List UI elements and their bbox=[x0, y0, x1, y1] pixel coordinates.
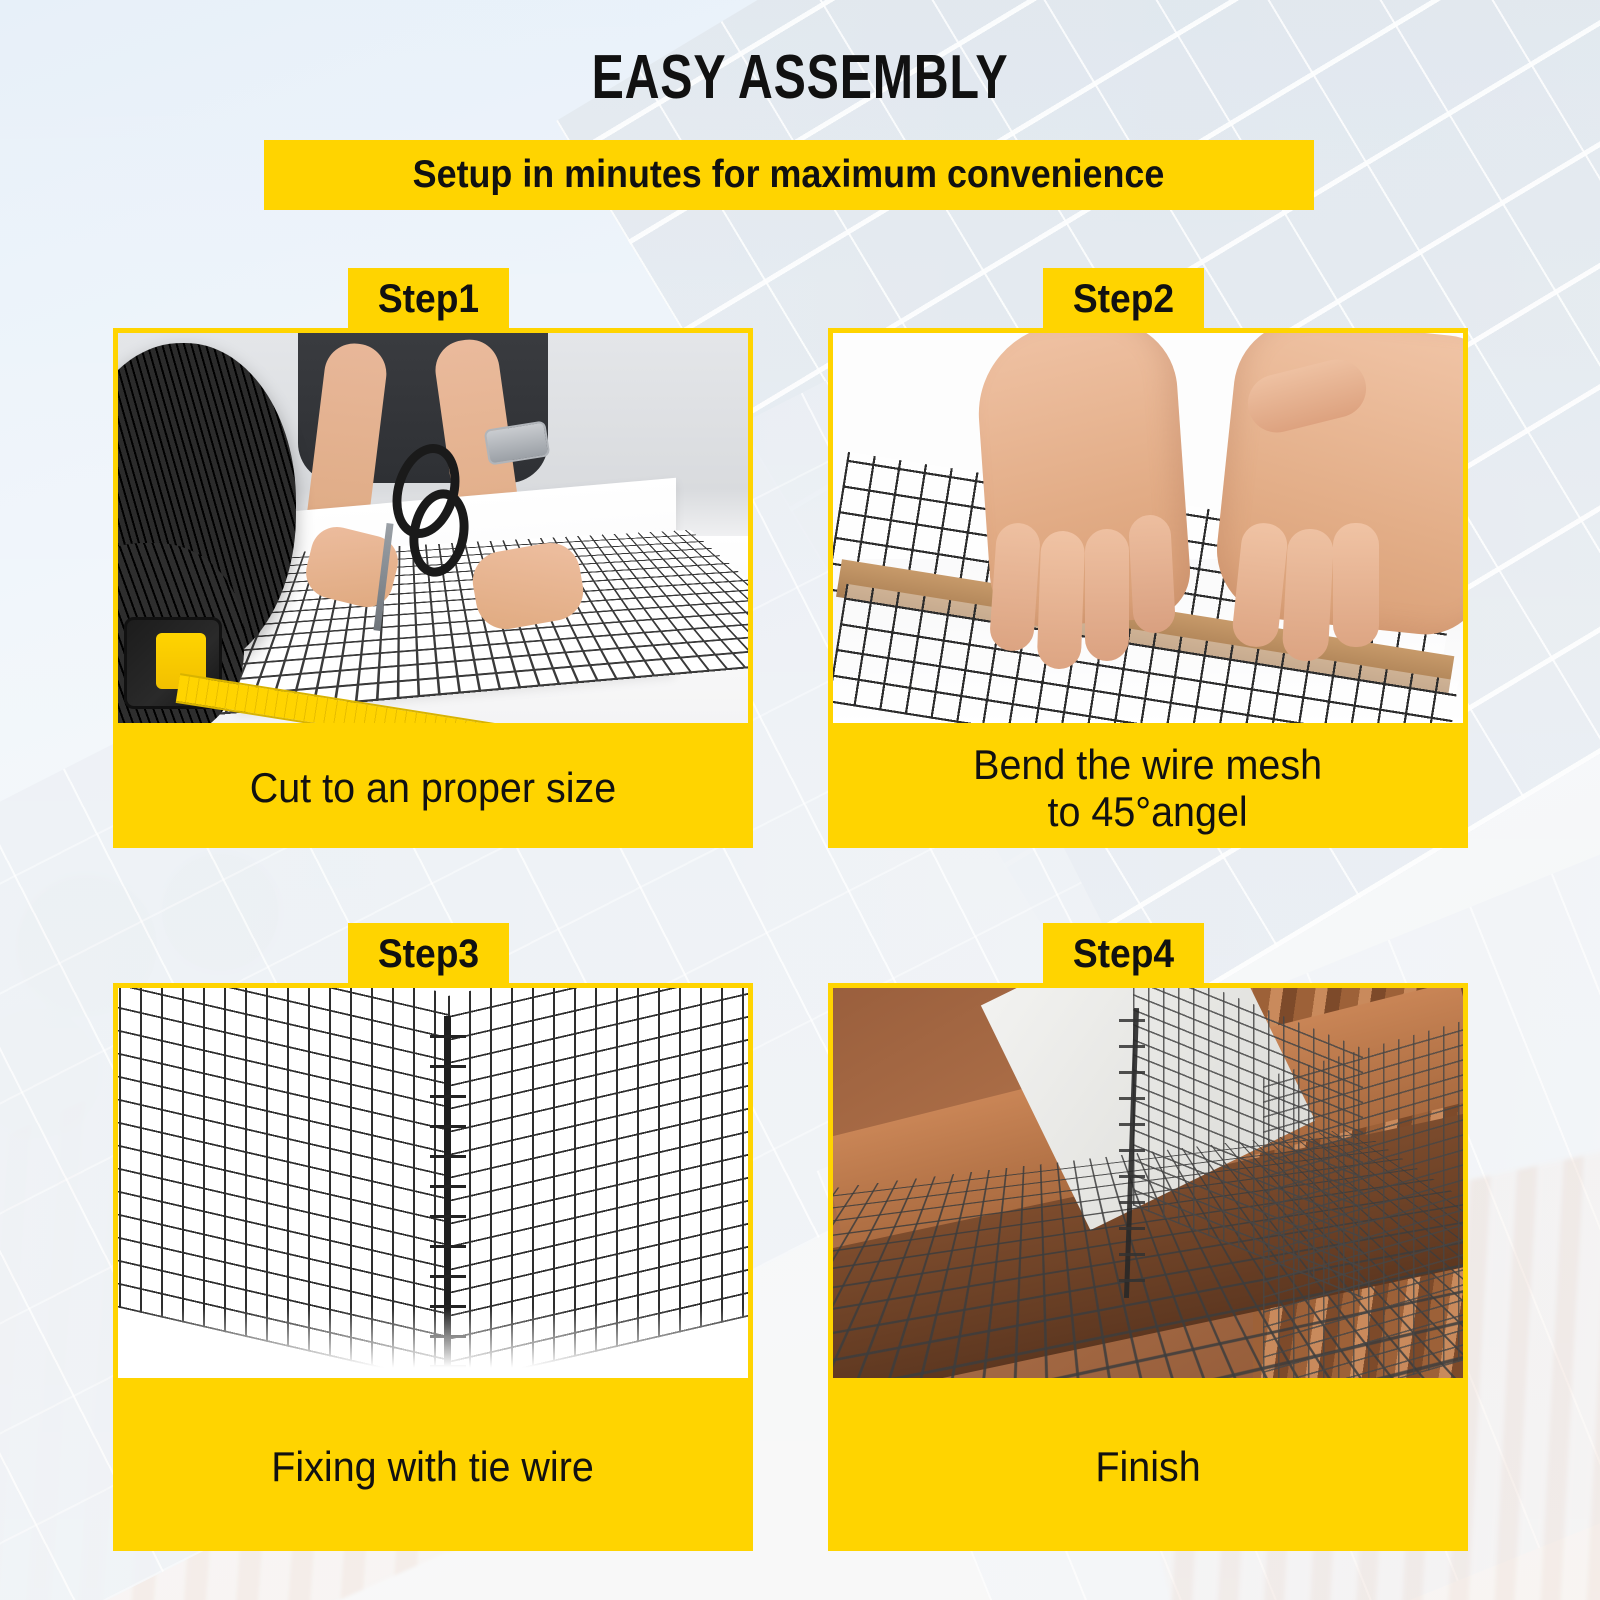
step-caption-text-2: Bend the wire mesh to 45°angel bbox=[974, 741, 1323, 835]
step-caption-text-4: Finish bbox=[1095, 1443, 1200, 1490]
step-photo-1 bbox=[118, 333, 748, 723]
step-photo-frame-3 bbox=[113, 983, 753, 1383]
step-caption-text-3: Fixing with tie wire bbox=[272, 1443, 595, 1490]
step-caption-line-2b: to 45°angel bbox=[1048, 788, 1248, 835]
step-caption-4: Finish bbox=[828, 1383, 1468, 1551]
step-caption-text-1: Cut to an proper size bbox=[250, 764, 616, 811]
photo2-left-finger-2 bbox=[1037, 530, 1086, 669]
step-tab-1: Step1 bbox=[348, 268, 509, 330]
step-photo-frame-4 bbox=[828, 983, 1468, 1383]
step-caption-line-2a: Bend the wire mesh bbox=[974, 741, 1323, 788]
photo4-tie-wires bbox=[1119, 1016, 1145, 1296]
step-tab-label-4: Step4 bbox=[1073, 934, 1174, 974]
step-caption-3: Fixing with tie wire bbox=[113, 1383, 753, 1551]
infographic-page: EASY ASSEMBLY Setup in minutes for maxim… bbox=[0, 0, 1600, 1600]
step-tab-label-3: Step3 bbox=[378, 934, 479, 974]
step-tab-label-2: Step2 bbox=[1073, 279, 1174, 319]
step-photo-2 bbox=[833, 333, 1463, 723]
photo3-bottom-fade bbox=[118, 1308, 748, 1378]
step-photo-3 bbox=[118, 988, 748, 1378]
photo2-left-finger-3 bbox=[1085, 529, 1129, 661]
photo2-right-finger-2 bbox=[1282, 528, 1335, 662]
photo2-left-finger-4 bbox=[1128, 514, 1176, 634]
photo2-right-finger-3 bbox=[1333, 523, 1379, 647]
step-photo-frame-1 bbox=[113, 328, 753, 728]
photo4-mesh-right-section bbox=[1263, 1018, 1463, 1378]
step-tab-3: Step3 bbox=[348, 923, 509, 985]
step-tab-4: Step4 bbox=[1043, 923, 1204, 985]
photo2-left-finger-1 bbox=[989, 522, 1042, 653]
step-photo-4 bbox=[833, 988, 1463, 1378]
step-caption-1: Cut to an proper size bbox=[113, 728, 753, 848]
step-tab-label-1: Step1 bbox=[378, 279, 479, 319]
step-photo-frame-2 bbox=[828, 328, 1468, 728]
steps-grid: Step1 bbox=[0, 0, 1600, 1600]
step-caption-2: Bend the wire mesh to 45°angel bbox=[828, 728, 1468, 848]
step-tab-2: Step2 bbox=[1043, 268, 1204, 330]
